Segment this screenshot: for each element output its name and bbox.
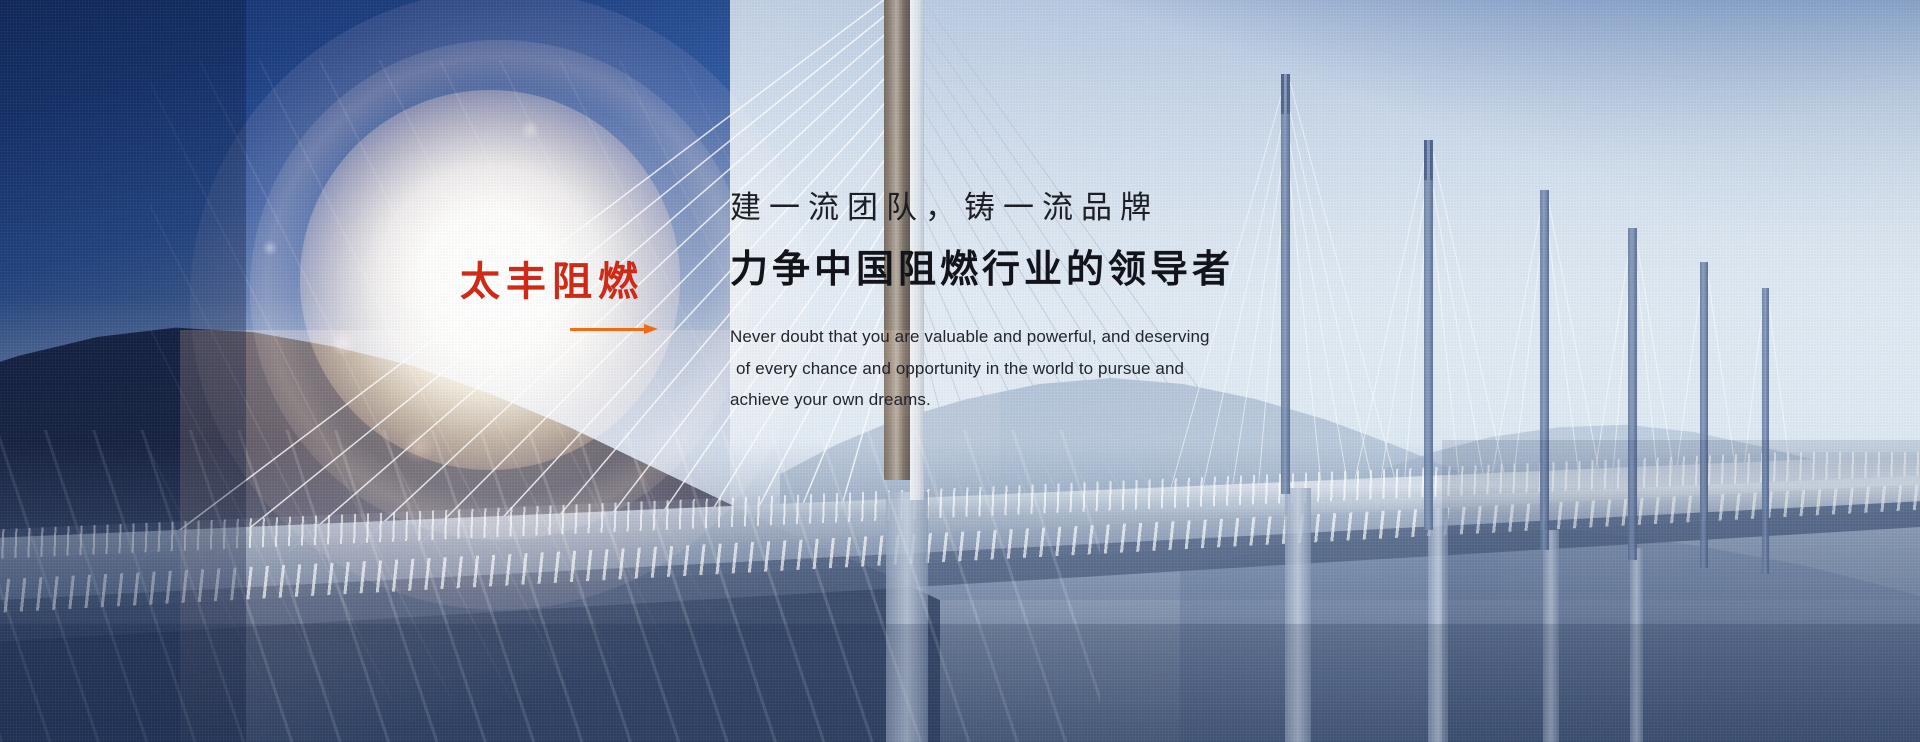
description-text: Never doubt that you are valuable and po…	[730, 321, 1330, 415]
description-line-3: achieve your own dreams.	[730, 384, 1330, 415]
headline-block: 建一流团队，铸一流品牌 力争中国阻燃行业的领导者 Never doubt tha…	[730, 188, 1350, 415]
right-arrow-icon	[570, 324, 658, 334]
description-line-1: Never doubt that you are valuable and po…	[730, 321, 1330, 352]
description-line-2: of every chance and opportunity in the w…	[730, 353, 1330, 384]
brand-name: 太丰阻燃	[460, 262, 680, 302]
banner-content: 太丰阻燃 建一流团队，铸一流品牌 力争中国阻燃行业的领导者 Never doub…	[0, 0, 1920, 742]
hero-banner: 太丰阻燃 建一流团队，铸一流品牌 力争中国阻燃行业的领导者 Never doub…	[0, 0, 1920, 742]
headline-title: 力争中国阻燃行业的领导者	[730, 244, 1350, 295]
arrow-head	[644, 324, 658, 334]
headline-subtitle: 建一流团队，铸一流品牌	[730, 188, 1350, 230]
arrow-bar	[570, 328, 648, 331]
brand-logo[interactable]: 太丰阻燃	[460, 262, 680, 334]
